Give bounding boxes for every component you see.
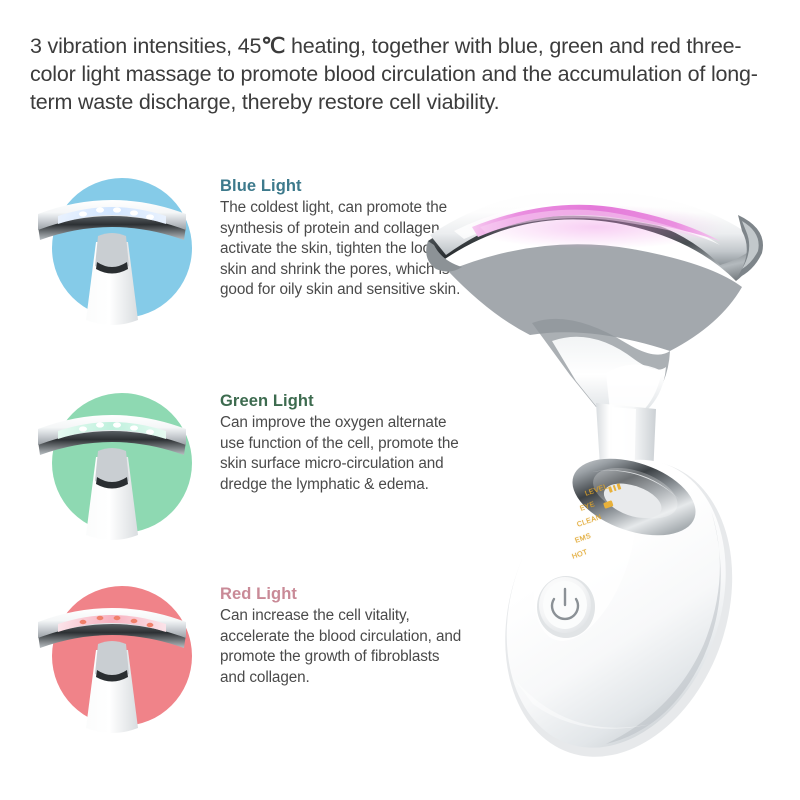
device-thumbnail-red-icon <box>28 578 196 746</box>
red-light-thumbnail <box>28 578 196 746</box>
device-thumbnail-blue-icon <box>28 170 196 338</box>
product-illustration <box>420 175 790 775</box>
degree-celsius-symbol: ℃ <box>261 34 285 58</box>
power-button-group <box>537 576 595 638</box>
header-description: 3 vibration intensities, 45℃ heating, to… <box>30 32 772 116</box>
header-text-part1: 3 vibration intensities, 45 <box>30 34 261 58</box>
blue-light-thumbnail <box>28 170 196 338</box>
device-thumbnail-green-icon <box>28 385 196 553</box>
main-product-image <box>420 175 790 775</box>
green-light-thumbnail <box>28 385 196 553</box>
